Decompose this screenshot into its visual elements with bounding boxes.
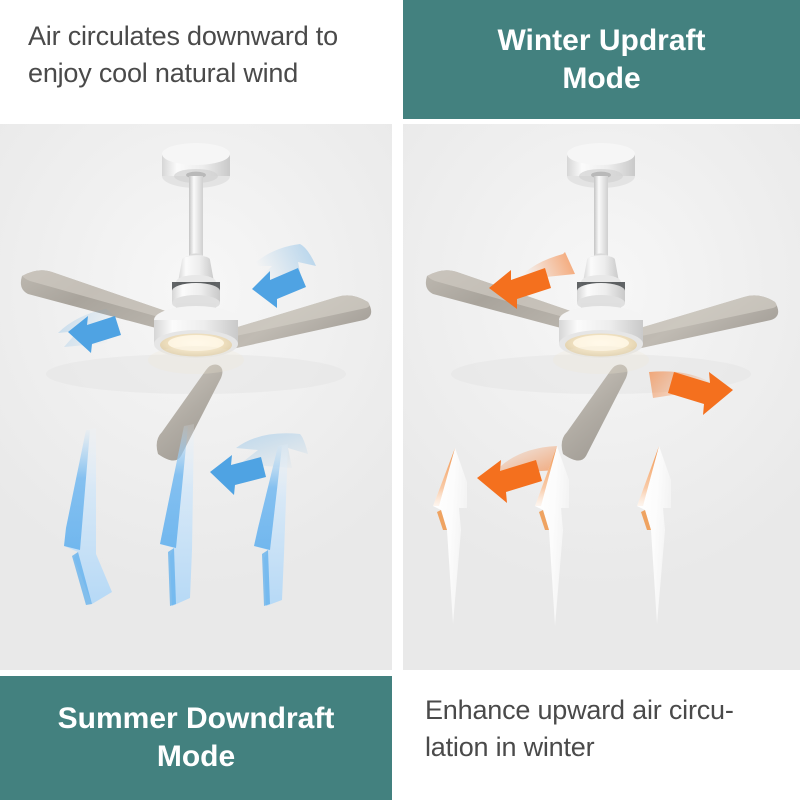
airflow-arrow-blue-left: [58, 309, 121, 353]
caption-bottom-left: Summer Downdraft Mode: [0, 676, 392, 800]
caption-bottom-left-text: Summer Downdraft Mode: [10, 700, 382, 776]
caption-bottom-right-line2: lation in winter: [425, 729, 790, 766]
downrod: [189, 176, 203, 259]
updraft-streaks: [403, 424, 800, 654]
caption-bottom-right-text: Enhance upward air circu- lation in wint…: [425, 692, 790, 766]
caption-bottom-left-line1: Summer Downdraft: [10, 700, 382, 738]
streak-orange-2: [535, 446, 569, 626]
caption-top-left-line2: enjoy cool natural wind: [28, 55, 370, 92]
caption-top-right-line1: Winter Updraft: [413, 22, 790, 60]
caption-top-left: Air circulates downward to enjoy cool na…: [0, 0, 392, 124]
caption-bottom-right-line1: Enhance upward air circu-: [425, 692, 790, 729]
caption-top-left-line1: Air circulates downward to: [28, 18, 370, 55]
caption-top-left-text: Air circulates downward to enjoy cool na…: [28, 18, 370, 92]
infographic-root: Air circulates downward to enjoy cool na…: [0, 0, 800, 800]
caption-top-right: Winter Updraft Mode: [403, 0, 800, 119]
streak-blue-1: [64, 428, 112, 605]
caption-top-right-line2: Mode: [413, 60, 790, 98]
led-light-disc: [553, 306, 649, 374]
panel-summer-downdraft: [0, 124, 392, 670]
streak-orange-3: [637, 446, 671, 624]
motor-housing: [172, 255, 220, 311]
caption-bottom-left-line2: Mode: [10, 738, 382, 776]
streak-orange-1: [433, 448, 467, 624]
led-light-disc: [148, 306, 244, 374]
caption-bottom-right: Enhance upward air circu- lation in wint…: [403, 676, 800, 800]
airflow-arrow-blue-upper-right: [252, 244, 316, 308]
caption-top-right-text: Winter Updraft Mode: [413, 22, 790, 98]
streak-blue-2: [160, 424, 194, 606]
downdraft-streaks: [0, 424, 392, 654]
streak-blue-3: [254, 444, 288, 606]
motor-housing: [577, 255, 625, 311]
panel-winter-updraft: [403, 124, 800, 670]
downrod: [594, 176, 608, 259]
